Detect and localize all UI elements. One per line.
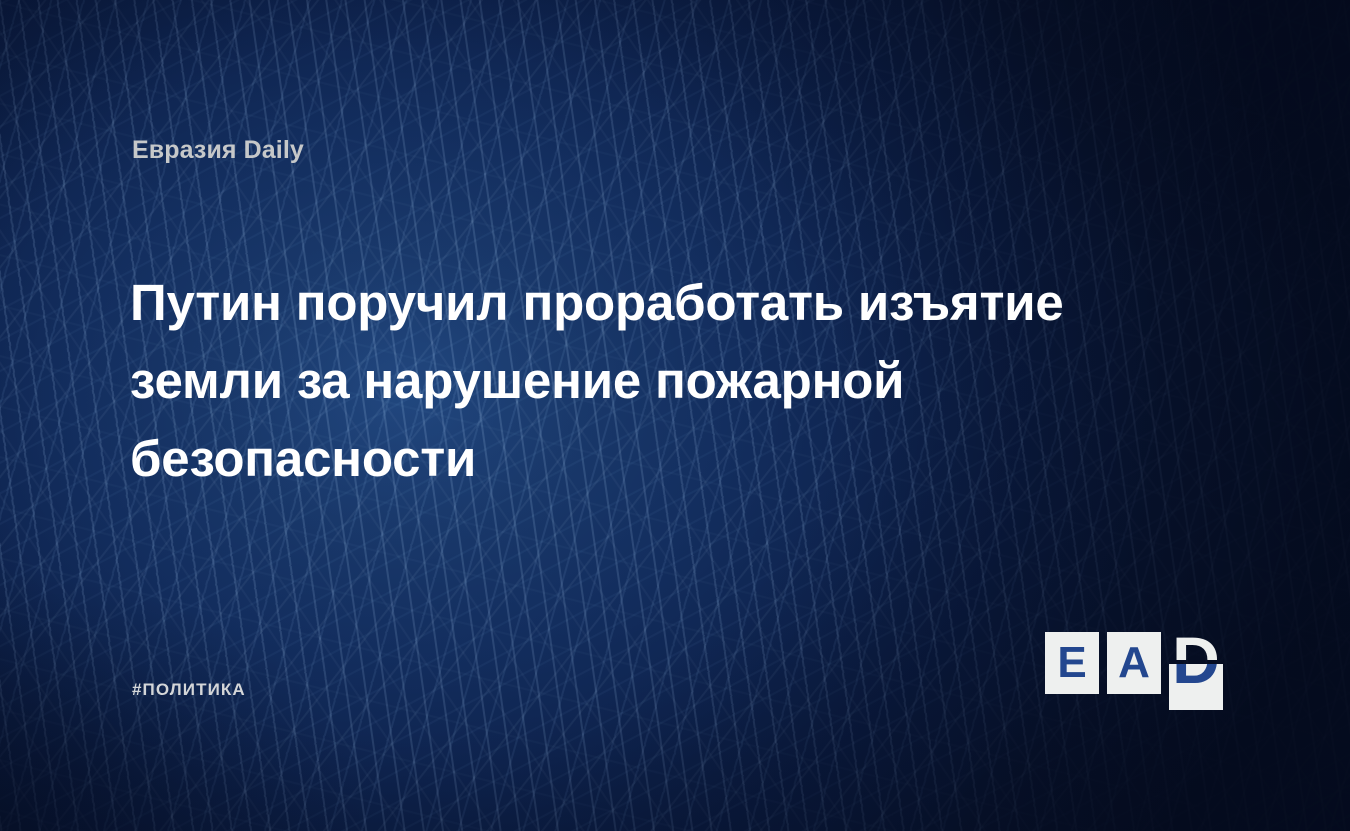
logo-d-top-half: D xyxy=(1169,614,1223,660)
logo-d-bottom-half: D xyxy=(1169,664,1223,710)
news-card: Евразия Daily Путин поручил проработать … xyxy=(0,0,1350,831)
eadaily-logo[interactable]: E A D D xyxy=(1045,632,1221,694)
logo-letter-d-top: D xyxy=(1169,614,1223,660)
headline: Путин поручил проработать изъятие земли … xyxy=(130,264,1140,498)
logo-tile-a: A xyxy=(1107,632,1161,694)
category-tag[interactable]: #ПОЛИТИКА xyxy=(132,680,246,700)
logo-letter-e: E xyxy=(1045,632,1099,694)
logo-tile-d: D D xyxy=(1169,614,1223,712)
logo-tile-e: E xyxy=(1045,632,1099,694)
logo-letter-d-bottom: D xyxy=(1169,664,1223,706)
brand-masthead: Евразия Daily xyxy=(132,136,304,165)
logo-letter-a: A xyxy=(1107,632,1161,694)
